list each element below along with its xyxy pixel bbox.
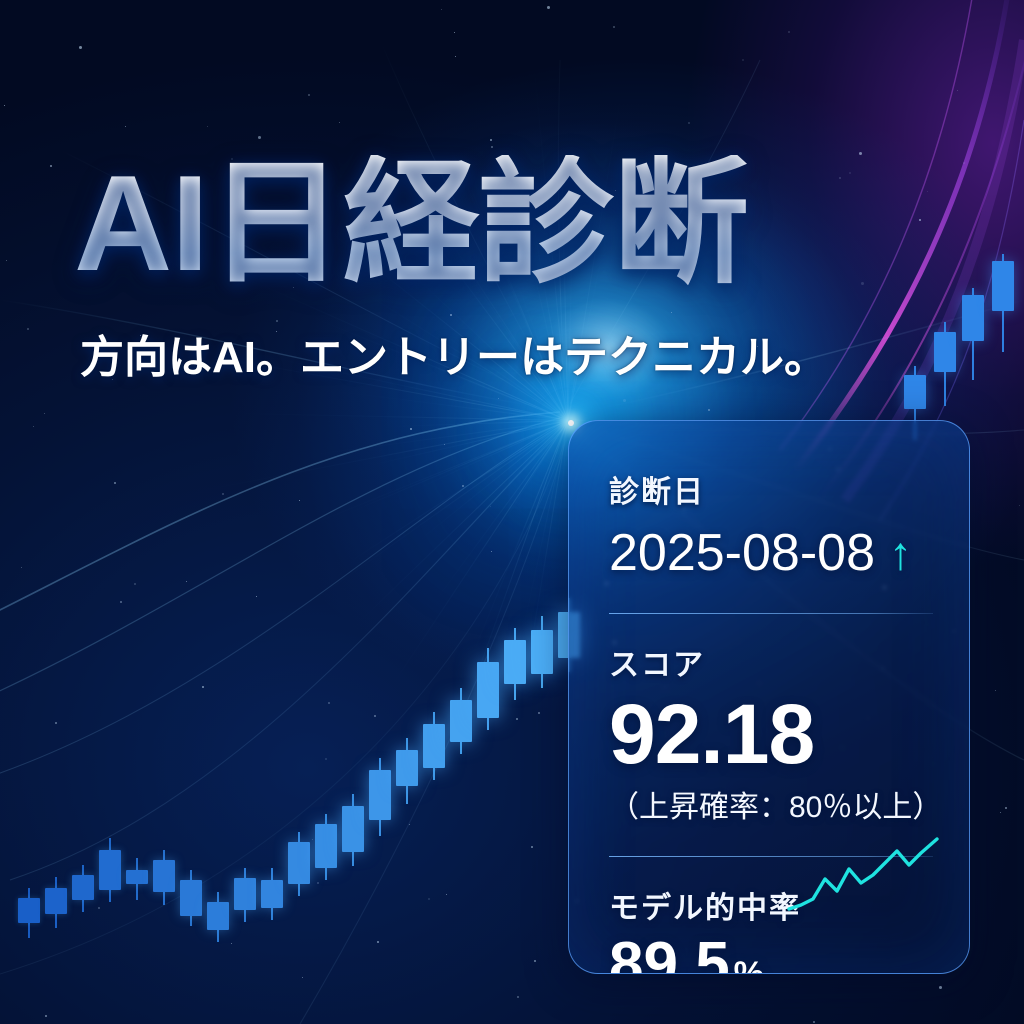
candlestick (180, 870, 202, 926)
diagnosis-card: 診断日 2025-08-08 ↑ スコア 92.18 （上昇確率：80％以上） … (568, 420, 970, 974)
page-subtitle: 方向はAI。エントリーはテクニカル。 (80, 336, 828, 380)
candlestick (234, 868, 256, 922)
candle-body (315, 824, 337, 868)
candle-wick (82, 865, 84, 912)
candle-body (99, 850, 121, 890)
candle-wick (244, 868, 246, 922)
page-title: AI日経診断 (74, 155, 748, 291)
sparkline-icon (787, 835, 947, 915)
candle-body (396, 750, 418, 786)
candle-body (934, 332, 956, 372)
candle-body (342, 806, 364, 852)
candle-wick (379, 758, 381, 836)
candle-body (18, 898, 40, 923)
candle-body (45, 888, 67, 914)
candle-body (207, 902, 229, 930)
arrow-up-icon: ↑ (889, 530, 912, 576)
candlestick (962, 288, 984, 380)
accuracy-value-row: 89,5 % (609, 931, 933, 974)
candle-body (234, 878, 256, 910)
candlestick (153, 850, 175, 905)
score-value: 92.18 (609, 690, 933, 778)
score-label: スコア (609, 640, 933, 684)
candle-wick (217, 892, 219, 942)
promo-banner: AI日経診断 方向はAI。エントリーはテクニカル。 診断日 2025-08-08… (0, 0, 1024, 1024)
candle-body (531, 630, 553, 674)
candlestick (369, 758, 391, 836)
date-value-row: 2025-08-08 ↑ (609, 523, 933, 583)
candlestick (315, 814, 337, 880)
candle-wick (487, 648, 489, 730)
candle-body (180, 880, 202, 916)
candlestick (934, 322, 956, 406)
candle-body (369, 770, 391, 820)
accuracy-unit: % (734, 956, 764, 974)
candle-body (153, 860, 175, 892)
candle-wick (136, 858, 138, 900)
candle-wick (972, 288, 974, 380)
candle-wick (271, 868, 273, 920)
divider-1 (609, 613, 933, 614)
candle-body (288, 842, 310, 884)
score-note: （上昇確率：80％以上） (609, 782, 933, 826)
candle-wick (406, 738, 408, 804)
candlestick (72, 865, 94, 912)
candle-wick (55, 877, 57, 928)
candle-body (126, 870, 148, 884)
score-section: スコア 92.18 （上昇確率：80％以上） (609, 640, 933, 826)
candlestick (126, 858, 148, 900)
candle-body (962, 295, 984, 341)
date-label: 診断日 (609, 467, 933, 511)
candle-body (992, 261, 1014, 311)
candlestick (45, 877, 67, 928)
candle-body (504, 640, 526, 684)
candlestick (99, 838, 121, 902)
candle-wick (352, 794, 354, 866)
accuracy-value: 89,5 (609, 931, 730, 974)
candle-body (423, 724, 445, 768)
candle-wick (541, 616, 543, 688)
candle-wick (163, 850, 165, 905)
candle-body (72, 875, 94, 900)
candlestick (342, 794, 364, 866)
candlestick (207, 892, 229, 942)
candle-body (261, 880, 283, 908)
candlestick (288, 832, 310, 896)
candle-body (477, 662, 499, 718)
candle-body (904, 375, 926, 409)
candle-wick (433, 712, 435, 780)
candle-wick (514, 628, 516, 700)
candle-wick (944, 322, 946, 406)
candlestick (992, 254, 1014, 352)
candle-wick (1002, 254, 1004, 352)
candlestick (261, 868, 283, 920)
candle-wick (109, 838, 111, 902)
candlestick (423, 712, 445, 780)
candle-wick (190, 870, 192, 926)
candle-wick (325, 814, 327, 880)
date-value: 2025-08-08 (609, 523, 875, 583)
date-section: 診断日 2025-08-08 ↑ (609, 467, 933, 583)
candlestick (396, 738, 418, 804)
candlestick (18, 888, 40, 938)
candle-wick (28, 888, 30, 938)
candle-wick (298, 832, 300, 896)
